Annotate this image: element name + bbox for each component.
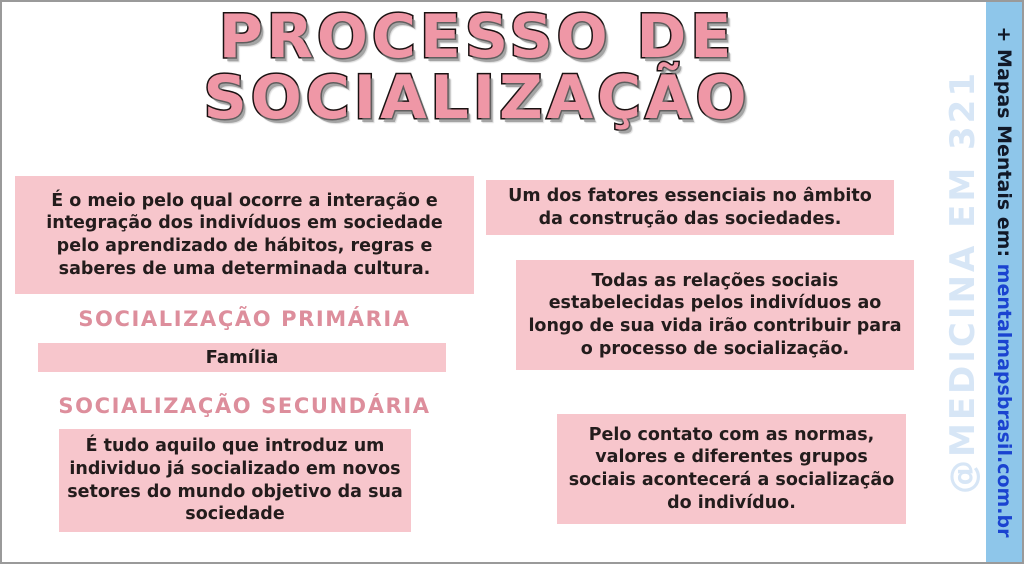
primary-socialization-value-box: Família bbox=[38, 343, 446, 372]
secondary-socialization-text: É tudo aquilo que introduz um individuo … bbox=[67, 435, 403, 526]
secondary-socialization-box: É tudo aquilo que introduz um individuo … bbox=[59, 429, 411, 532]
page-title-line-2: SOCIALIZAÇÃO bbox=[2, 69, 952, 128]
credit-strip-text[interactable]: + Mapas Mentais em: mentalmapsbrasil.com… bbox=[993, 27, 1015, 538]
handle-watermark: @MEDICINA EM 321 bbox=[940, 2, 986, 562]
right-box-relations-text: Todas as relações sociais estabelecidas … bbox=[524, 270, 906, 361]
primary-socialization-heading: SOCIALIZAÇÃO PRIMÁRIA bbox=[15, 307, 474, 331]
definition-box-text: É o meio pelo qual ocorre a interação e … bbox=[23, 190, 466, 281]
right-box-norms-text: Pelo contato com as normas, valores e di… bbox=[565, 424, 898, 515]
right-box-factors-text: Um dos fatores essenciais no âmbito da c… bbox=[494, 185, 886, 231]
mindmap-canvas: PROCESSO DE SOCIALIZAÇÃO É o meio pelo q… bbox=[0, 0, 1024, 564]
right-box-norms: Pelo contato com as normas, valores e di… bbox=[557, 414, 906, 524]
handle-watermark-text: @MEDICINA EM 321 bbox=[943, 70, 983, 494]
credit-url[interactable]: mentalmapsbrasil.com.br bbox=[993, 264, 1015, 538]
credit-strip: + Mapas Mentais em: mentalmapsbrasil.com… bbox=[986, 2, 1022, 562]
page-title-line-1: PROCESSO DE bbox=[2, 8, 952, 67]
definition-box: É o meio pelo qual ocorre a interação e … bbox=[15, 176, 474, 294]
page-title: PROCESSO DE SOCIALIZAÇÃO bbox=[2, 8, 952, 128]
secondary-socialization-heading: SOCIALIZAÇÃO SECUNDÁRIA bbox=[15, 394, 474, 418]
primary-socialization-value: Família bbox=[46, 346, 438, 369]
credit-prefix: + Mapas Mentais em: bbox=[993, 27, 1015, 264]
right-box-relations: Todas as relações sociais estabelecidas … bbox=[516, 260, 914, 370]
right-box-factors: Um dos fatores essenciais no âmbito da c… bbox=[486, 180, 894, 235]
